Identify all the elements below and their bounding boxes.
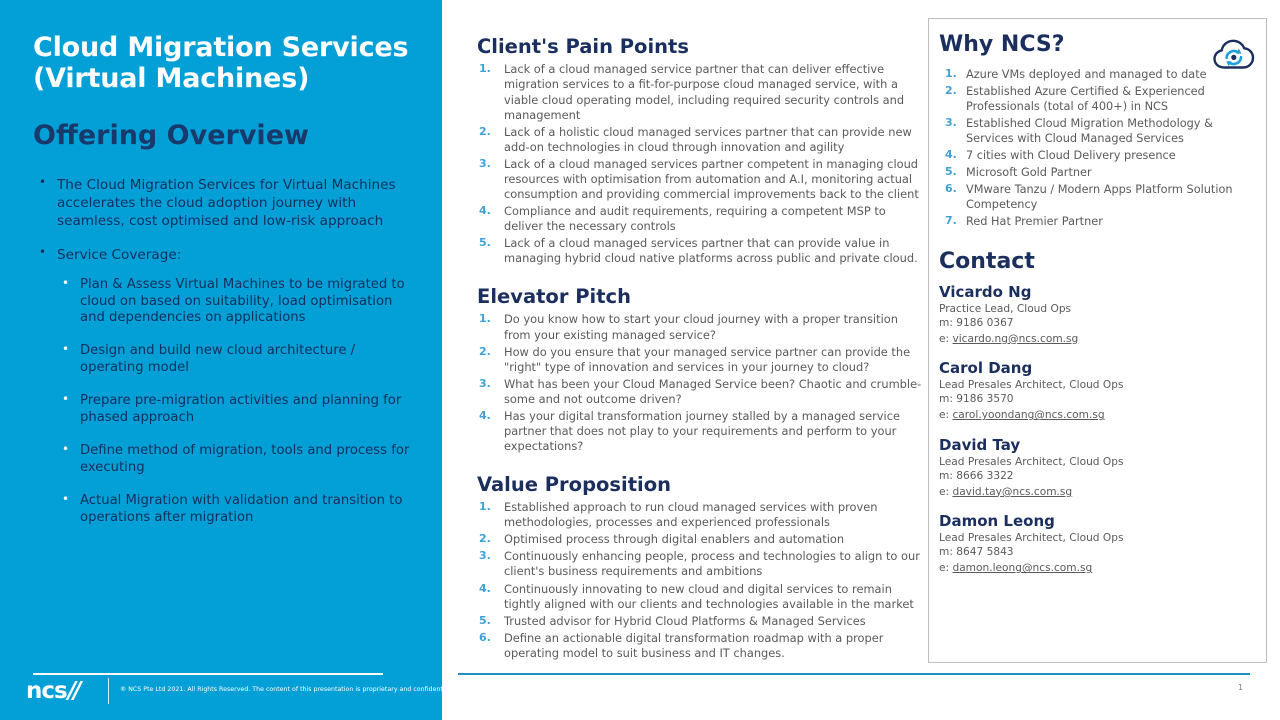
list-item: Design and build new cloud architecture … <box>57 343 413 377</box>
elevator-pitch-heading: Elevator Pitch <box>477 286 925 308</box>
list-item: Lack of a cloud managed service partner … <box>477 62 925 122</box>
list-item: Do you know how to start your cloud jour… <box>477 312 925 342</box>
list-item: Red Hat Premier Partner <box>939 214 1258 229</box>
list-item: Actual Migration with validation and tra… <box>57 493 413 527</box>
page-number: 1 <box>1238 683 1243 692</box>
list-item: Plan & Assess Virtual Machines to be mig… <box>57 277 413 328</box>
contact-email-row: e: damon.leong@ncs.com.sg <box>939 561 1258 576</box>
list-item: Has your digital transformation journey … <box>477 409 925 454</box>
list-item: What has been your Cloud Managed Service… <box>477 377 925 407</box>
contact-mobile: m: 8647 5843 <box>939 545 1258 561</box>
value-proposition-heading: Value Proposition <box>477 474 925 496</box>
service-coverage-sublist: Plan & Assess Virtual Machines to be mig… <box>57 277 413 527</box>
logo-divider <box>108 678 109 704</box>
why-ncs-panel: Why NCS? Azure VMs deployed and managed … <box>928 18 1267 663</box>
list-item: Lack of a cloud managed services partner… <box>477 236 925 266</box>
list-item: Established Azure Certified & Experience… <box>939 84 1258 114</box>
list-item: Lack of a holistic cloud managed service… <box>477 125 925 155</box>
list-item: Define method of migration, tools and pr… <box>57 443 413 477</box>
ncs-logo-wordmark: ncs <box>26 680 67 703</box>
contact-role: Lead Presales Architect, Cloud Ops <box>939 455 1258 469</box>
why-ncs-list: Azure VMs deployed and managed to date E… <box>939 67 1258 229</box>
list-item: The Cloud Migration Services for Virtual… <box>33 176 413 230</box>
ncs-logo: ncs // <box>26 679 79 703</box>
contact-email-link[interactable]: damon.leong@ncs.com.sg <box>952 562 1092 574</box>
pain-points-list: Lack of a cloud managed service partner … <box>477 62 925 266</box>
list-item: Trusted advisor for Hybrid Cloud Platfor… <box>477 614 925 629</box>
contact-mobile: m: 9186 0367 <box>939 316 1258 332</box>
pain-points-heading: Client's Pain Points <box>477 36 925 58</box>
why-ncs-heading: Why NCS? <box>939 33 1258 57</box>
contact-name: David Tay <box>939 436 1258 454</box>
contact-heading: Contact <box>939 250 1258 274</box>
slide: Cloud Migration Services (Virtual Machin… <box>0 0 1280 720</box>
contact-email-link[interactable]: carol.yoondang@ncs.com.sg <box>952 409 1104 421</box>
footer-divider-right <box>458 673 1250 675</box>
bullet-text: The Cloud Migration Services for Virtual… <box>57 177 396 229</box>
middle-column: Client's Pain Points Lack of a cloud man… <box>477 36 925 663</box>
left-blue-panel: Cloud Migration Services (Virtual Machin… <box>0 0 442 720</box>
footer-divider-left <box>33 673 383 675</box>
list-item: How do you ensure that your managed serv… <box>477 345 925 375</box>
list-item: Established approach to run cloud manage… <box>477 500 925 530</box>
contact-email-row: e: vicardo.ng@ncs.com.sg <box>939 332 1258 347</box>
contact-card: Vicardo Ng Practice Lead, Cloud Ops m: 9… <box>939 283 1258 348</box>
contact-email-row: e: carol.yoondang@ncs.com.sg <box>939 408 1258 423</box>
contact-email-row: e: david.tay@ncs.com.sg <box>939 485 1258 500</box>
contact-mobile: m: 8666 3322 <box>939 469 1258 485</box>
list-item: Optimised process through digital enable… <box>477 532 925 547</box>
offering-overview-title: Offering Overview <box>33 121 413 151</box>
list-item: 7 cities with Cloud Delivery presence <box>939 148 1258 163</box>
contact-name: Damon Leong <box>939 512 1258 530</box>
list-item: VMware Tanzu / Modern Apps Platform Solu… <box>939 182 1258 212</box>
contact-email-link[interactable]: david.tay@ncs.com.sg <box>952 486 1072 498</box>
list-item: Azure VMs deployed and managed to date <box>939 67 1258 82</box>
list-item: Define an actionable digital transformat… <box>477 631 925 661</box>
why-ncs-content: Why NCS? Azure VMs deployed and managed … <box>939 33 1258 589</box>
email-prefix: e: <box>939 409 952 421</box>
contact-role: Lead Presales Architect, Cloud Ops <box>939 531 1258 545</box>
copyright-text: ® NCS Pte Ltd 2021. All Rights Reserved.… <box>120 686 738 693</box>
list-item: Service Coverage: Plan & Assess Virtual … <box>33 246 413 527</box>
list-item: Continuously innovating to new cloud and… <box>477 582 925 612</box>
contact-name: Carol Dang <box>939 359 1258 377</box>
list-item: Prepare pre-migration activities and pla… <box>57 393 413 427</box>
email-prefix: e: <box>939 486 952 498</box>
ncs-logo-slashes: // <box>68 680 79 703</box>
contact-card: Damon Leong Lead Presales Architect, Clo… <box>939 512 1258 577</box>
list-item: Compliance and audit requirements, requi… <box>477 204 925 234</box>
bullet-text: Service Coverage: <box>57 247 181 263</box>
list-item: Microsoft Gold Partner <box>939 165 1258 180</box>
email-prefix: e: <box>939 562 952 574</box>
email-prefix: e: <box>939 333 952 345</box>
contact-email-link[interactable]: vicardo.ng@ncs.com.sg <box>952 333 1078 345</box>
contact-card: David Tay Lead Presales Architect, Cloud… <box>939 436 1258 501</box>
offering-bullet-list: The Cloud Migration Services for Virtual… <box>33 176 413 526</box>
contact-role: Lead Presales Architect, Cloud Ops <box>939 378 1258 392</box>
value-proposition-list: Established approach to run cloud manage… <box>477 500 925 660</box>
left-panel-content: Cloud Migration Services (Virtual Machin… <box>33 32 413 541</box>
contact-name: Vicardo Ng <box>939 283 1258 301</box>
list-item: Lack of a cloud managed services partner… <box>477 157 925 202</box>
list-item: Continuously enhancing people, process a… <box>477 549 925 579</box>
contact-role: Practice Lead, Cloud Ops <box>939 302 1258 316</box>
deck-title: Cloud Migration Services (Virtual Machin… <box>33 32 413 95</box>
elevator-pitch-list: Do you know how to start your cloud jour… <box>477 312 925 453</box>
contact-mobile: m: 9186 3570 <box>939 392 1258 408</box>
list-item: Established Cloud Migration Methodology … <box>939 116 1258 146</box>
contact-card: Carol Dang Lead Presales Architect, Clou… <box>939 359 1258 424</box>
